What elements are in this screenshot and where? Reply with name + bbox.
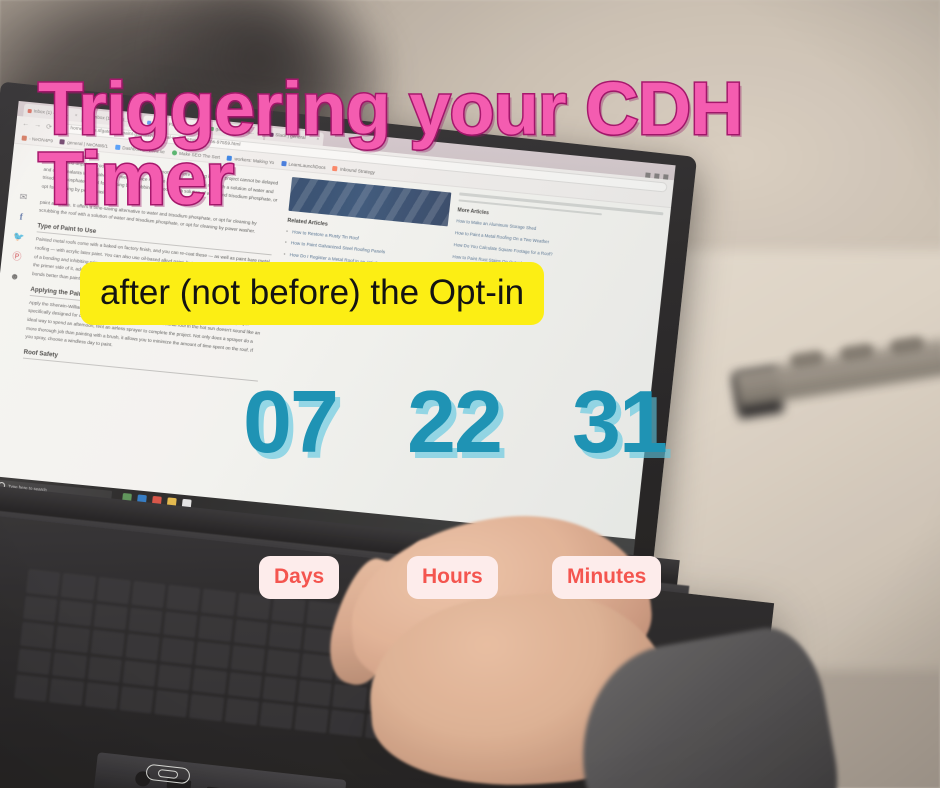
countdown-days-label: Days [259, 556, 339, 599]
promotional-graphic: Inbox (1) - kbm... × Inbox (1) - hold...… [0, 0, 940, 788]
subtitle-text: after (not before) the Opt-in [80, 262, 544, 325]
reddit-icon[interactable]: ☻ [9, 272, 19, 282]
countdown-labels: Days Hours Minutes [243, 556, 703, 600]
pinterest-icon[interactable]: Ⓟ [12, 252, 22, 262]
bookmark-favicon [22, 135, 28, 140]
countdown-hours-label: Hours [407, 556, 498, 599]
countdown-minutes-value: 31 [572, 378, 666, 466]
title-line-2: Timer [38, 144, 778, 214]
page-title: Triggering your CDH Timer [38, 74, 778, 213]
back-icon[interactable]: ← [22, 120, 30, 128]
tab-favicon [28, 108, 32, 112]
countdown-minutes-label: Minutes [552, 556, 661, 599]
twitter-icon[interactable]: 🐦 [13, 232, 25, 242]
countdown-timer: 07 22 31 [243, 378, 693, 488]
mail-icon[interactable]: ✉ [19, 193, 27, 203]
countdown-days-value: 07 [243, 378, 337, 466]
countdown-hours-value: 22 [407, 378, 501, 466]
subtitle-banner: after (not before) the Opt-in [80, 262, 544, 325]
hand-typing [330, 500, 750, 788]
facebook-icon[interactable]: f [19, 213, 23, 222]
